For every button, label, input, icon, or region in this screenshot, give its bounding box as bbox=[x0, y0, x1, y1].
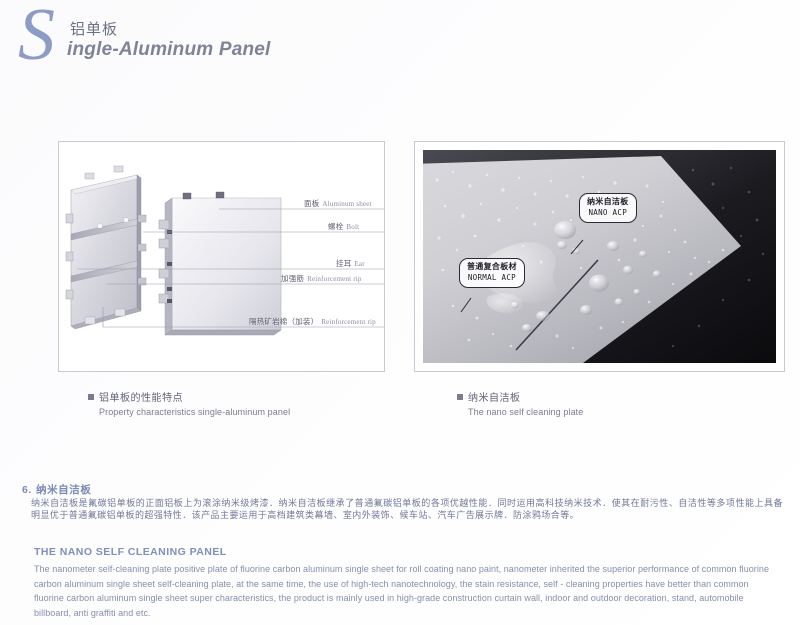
bullet-square-icon bbox=[457, 394, 463, 400]
bullet-square-icon bbox=[88, 394, 94, 400]
exploded-panel-drawing bbox=[59, 142, 384, 371]
page-header: S 铝单板 ingle-Aluminum Panel bbox=[18, 8, 438, 70]
callout-label-aluminum-sheet: 面板Aluminum sheet bbox=[304, 198, 372, 209]
callout-bubble-normal-acp: 普通复合板材 NORMAL ACP bbox=[459, 258, 525, 288]
callout-bubble-nano-acp: 纳米自洁板 NANO ACP bbox=[579, 193, 637, 223]
caption-right: 纳米自洁板 The nano self cleaning plate bbox=[457, 389, 583, 417]
callout-label-rock-wool: 隔热矿岩棉（加装）Reinforcement rip bbox=[249, 316, 376, 327]
page-title-chinese: 铝单板 bbox=[70, 18, 118, 39]
figure-panel-right: 纳米自洁板 NANO ACP 普通复合板材 NORMAL ACP bbox=[414, 141, 785, 372]
figure-panel-left bbox=[58, 141, 385, 372]
section-body-english: The nanometer self-cleaning plate positi… bbox=[34, 562, 774, 620]
section-body-chinese: 纳米自洁板是氟碳铝单板的正面铝板上为滚涂纳米级烤漆．纳米自洁板继承了普通氟碳铝单… bbox=[31, 497, 783, 522]
callout-label-bolt: 螺栓Bolt bbox=[328, 221, 359, 232]
section-title-english: THE NANO SELF CLEANING PANEL bbox=[34, 546, 227, 558]
drop-cap-letter: S bbox=[18, 0, 55, 72]
callout-label-ear: 挂耳Ear bbox=[336, 258, 365, 269]
water-droplet-photo: 纳米自洁板 NANO ACP 普通复合板材 NORMAL ACP bbox=[423, 150, 776, 363]
brochure-page: S 铝单板 ingle-Aluminum Panel bbox=[0, 0, 800, 625]
section-number: 6. bbox=[22, 484, 32, 496]
caption-left: 铝单板的性能特点 Property characteristics single… bbox=[88, 389, 290, 417]
caption-right-chinese: 纳米自洁板 bbox=[468, 393, 521, 404]
callout-label-reinforcement-rip: 加强筋Reinforcement rip bbox=[281, 273, 362, 284]
caption-left-chinese: 铝单板的性能特点 bbox=[99, 393, 183, 404]
page-title-english: ingle-Aluminum Panel bbox=[67, 39, 271, 61]
section-title-chinese: 纳米自洁板 bbox=[36, 484, 92, 496]
caption-right-english: The nano self cleaning plate bbox=[468, 407, 583, 417]
caption-left-english: Property characteristics single-aluminum… bbox=[99, 407, 290, 417]
section-heading: 6.纳米自洁板 bbox=[22, 482, 91, 497]
